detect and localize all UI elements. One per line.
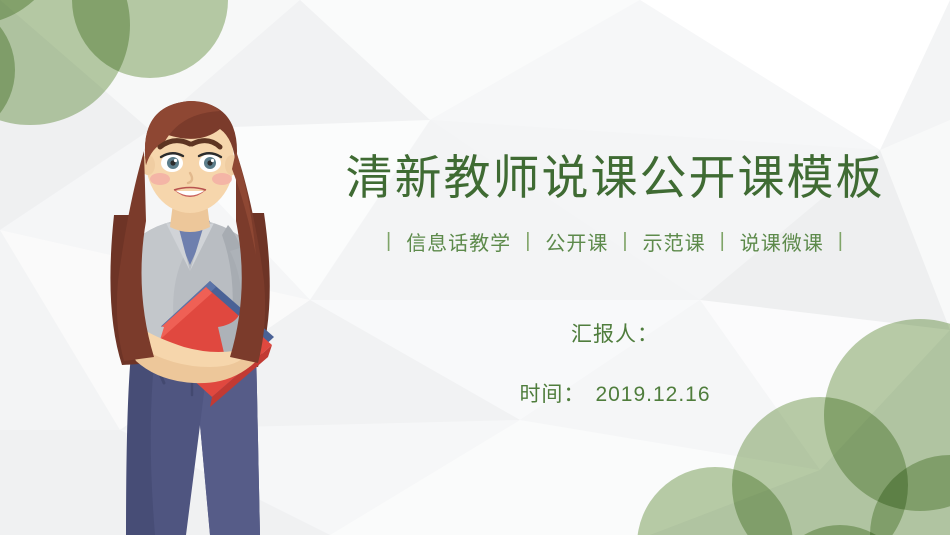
slide-title: 清新教师说课公开课模板 xyxy=(285,150,945,205)
subtitle-item-2: 公开课 xyxy=(541,227,612,256)
date-line: 时间：2019.12.16 xyxy=(285,378,945,408)
date-label: 时间： xyxy=(519,383,585,406)
subtitle-separator: | xyxy=(376,230,402,253)
subtitle-item-3: 示范课 xyxy=(639,227,710,256)
subtitle-separator: | xyxy=(828,230,854,253)
subtitle-separator: | xyxy=(612,230,638,253)
teacher-avatar-illustration-icon xyxy=(60,95,320,535)
presenter-line: 汇报人： xyxy=(285,318,945,348)
slide-text-block: 清新教师说课公开课模板 | 信息话教学 | 公开课 | 示范课 | 说课微课 |… xyxy=(285,150,945,408)
presentation-slide: 清新教师说课公开课模板 | 信息话教学 | 公开课 | 示范课 | 说课微课 |… xyxy=(0,0,950,535)
presenter-label: 汇报人： xyxy=(571,323,659,346)
subtitle-separator: | xyxy=(515,230,541,253)
subtitle-separator: | xyxy=(710,230,736,253)
subtitle-item-1: 信息话教学 xyxy=(402,227,515,256)
subtitle-item-4: 说课微课 xyxy=(736,227,828,256)
date-value: 2019.12.16 xyxy=(595,383,710,406)
slide-subtitle: | 信息话教学 | 公开课 | 示范课 | 说课微课 | xyxy=(285,227,945,256)
